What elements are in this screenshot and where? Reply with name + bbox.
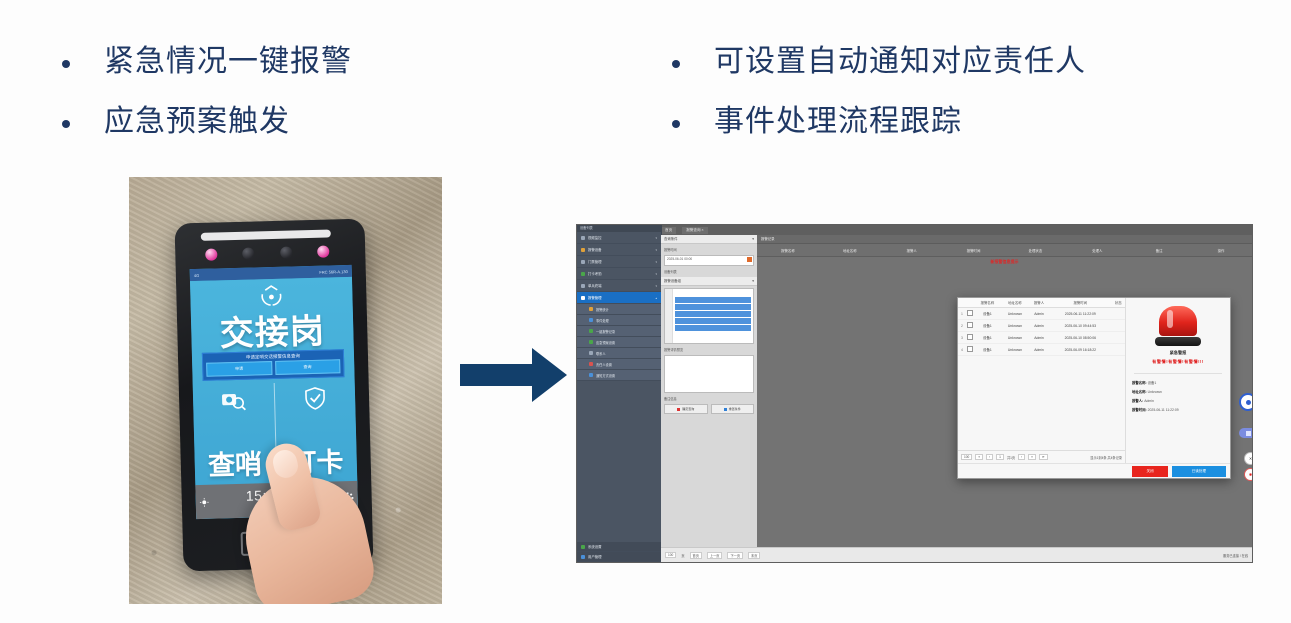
device-listbox[interactable]	[664, 288, 754, 344]
query-confirm-button[interactable]: 确定查询	[664, 404, 708, 414]
bullet-list-right: 可设置自动通知对应责任人 事件处理流程跟踪	[672, 44, 1086, 140]
cell-time: 2025-06-10 09:44:53	[1049, 320, 1111, 332]
cell-address: Unknown	[1001, 320, 1029, 332]
alarm-detail-panel: 紧急警报 有警情!有警情!有警情!!! 报警名称: 设备1 地址名称: Unkn…	[1126, 298, 1230, 463]
module-icon	[581, 248, 585, 252]
mark-handled-button[interactable]: 已读处理	[1172, 466, 1226, 477]
module-icon	[581, 272, 585, 276]
sidebar-item-attendance[interactable]: 打卡考勤 ▾	[577, 268, 661, 280]
module-icon	[589, 307, 593, 311]
status-next-page[interactable]: 下一页	[727, 552, 743, 559]
cell-status	[1112, 332, 1125, 344]
bullet-text: 事件处理流程跟踪	[714, 104, 962, 140]
software-statusbar: 100 页 首页 上一页 下一页 末页 服务已连接 / 在线	[661, 547, 1252, 562]
sidebar-child-contacts[interactable]: 联系人	[577, 348, 661, 359]
cell-address: Unknown	[1001, 344, 1029, 356]
module-icon	[589, 340, 593, 344]
cell-status	[1112, 344, 1125, 356]
row-checkbox[interactable]	[966, 332, 974, 344]
table-row[interactable]: 4 设备1 Unknown Admin 2025-06-09 16:18:22	[958, 344, 1125, 356]
sidebar-item-label: 门禁管理	[588, 259, 602, 264]
checkbox-icon[interactable]	[967, 334, 973, 340]
query-panel-title: 查询条件	[664, 235, 678, 243]
column-header: 报警人	[1029, 298, 1049, 308]
beacon-base	[1155, 337, 1201, 346]
module-icon	[589, 329, 593, 333]
chevron-down-icon: ▾	[655, 248, 657, 252]
bullet-dot-icon	[62, 60, 70, 68]
table-row[interactable]: 2 设备1 Unknown Admin 2025-06-10 09:44:53	[958, 320, 1125, 332]
alarm-info-person: 报警人: Admin	[1132, 398, 1224, 403]
sidebar-item-user-management[interactable]: 用户管理	[577, 552, 661, 562]
column-header: 地址名称	[819, 248, 881, 253]
sidebar-item-access[interactable]: 门禁管理 ▾	[577, 256, 661, 268]
chevron-down-icon: ▾	[655, 284, 657, 288]
alarm-dialog-footer: 关闭 已读处理	[958, 463, 1230, 478]
settings-badge-icon[interactable]: ✱	[1244, 468, 1253, 481]
alarm-info-time: 报警时间: 2025-06-11 11:22:09	[1132, 407, 1224, 412]
cell-name: 设备1	[974, 332, 1001, 344]
sidebar-item-label: 系统设置	[588, 544, 602, 549]
right-arrow-icon	[460, 348, 567, 407]
chevron-down-icon[interactable]: ▾	[752, 277, 754, 285]
bullet-dot-icon	[62, 120, 70, 128]
alarm-title: 紧急警报	[1170, 350, 1187, 356]
beacon-highlight	[1167, 310, 1173, 328]
sidebar-child-notify-settings[interactable]: 通知方式设置	[577, 370, 661, 381]
checkbox-icon[interactable]	[967, 310, 973, 316]
shield-check-icon	[302, 386, 329, 411]
device-banner-button-query[interactable]: 查询	[275, 359, 341, 375]
sidebar-item-alarm-management[interactable]: 报警管理 ▴	[577, 292, 661, 304]
row-checkbox[interactable]	[966, 344, 974, 356]
record-dot-icon[interactable]	[1239, 393, 1253, 411]
device-banner[interactable]: 申请定哨交话报警信息查询 申请 查询	[202, 349, 345, 381]
info-value: 设备1	[1148, 381, 1157, 385]
preview-box	[664, 355, 754, 393]
tab-alarm-query[interactable]: 报警查询 ×	[682, 227, 707, 234]
column-header: 报警名称	[757, 248, 819, 253]
sidebar-item-system-settings[interactable]: 系统设置	[577, 542, 661, 552]
cell-person: Admin	[1029, 308, 1049, 320]
device-action-inspect[interactable]: 查哨	[193, 383, 276, 485]
table-row[interactable]: 1 设备1 Unknown Admin 2025-06-11 11:22:09	[958, 308, 1125, 320]
column-header: 报警时间	[943, 248, 1005, 253]
new-alarm-notice: 新报警信息提示	[757, 259, 1252, 265]
index-header	[958, 298, 966, 308]
next-page-button[interactable]: ›	[1018, 454, 1025, 460]
bullet-item: 应急预案触发	[62, 104, 352, 140]
module-icon	[581, 236, 585, 240]
cell-time: 2025-06-11 11:22:09	[1049, 308, 1111, 320]
alarm-subtitle: 有警情!有警情!有警情!!!	[1152, 359, 1204, 365]
list-item[interactable]	[675, 304, 751, 310]
column-header: 报警人	[881, 248, 943, 253]
sidebar-item-label: 联系人	[596, 351, 606, 356]
column-header: 报警名称	[974, 298, 1001, 308]
sidebar-item-label: 打卡考勤	[588, 271, 602, 276]
device-status-right: FRC 56R-A.130	[319, 269, 348, 275]
bullet-list-left: 紧急情况一键报警 应急预案触发	[62, 44, 352, 140]
device-speaker	[201, 229, 331, 240]
info-value: Unknown	[1148, 390, 1162, 394]
refresh-button[interactable]: ⟳	[1039, 454, 1048, 460]
sidebar-item-label: 用户管理	[588, 554, 602, 559]
status-page-unit: 页	[681, 553, 684, 558]
list-item[interactable]	[675, 325, 751, 331]
checkbox-icon[interactable]	[967, 346, 973, 352]
module-icon	[581, 545, 585, 549]
sidebar-item-label: 责任人设置	[596, 362, 612, 367]
sidebar-child-event-handling[interactable]: 事件处理	[577, 315, 661, 326]
window-pill-icon[interactable]	[1239, 428, 1253, 438]
main-column-header: 报警名称 地址名称 报警人 报警时间 处理状态 处理人 备注 操作	[757, 244, 1252, 257]
device-group-title: 报警设备组	[664, 277, 681, 285]
software-sidebar: 设备列表 视频监控 ▾ 报警设备 ▾ 门禁管理 ▾ 打卡考勤 ▾	[577, 225, 662, 562]
bullet-item: 可设置自动通知对应责任人	[672, 44, 1086, 80]
table-row[interactable]: 3 设备1 Unknown Admin 2025-06-10 08:50:06	[958, 332, 1125, 344]
calendar-icon[interactable]	[747, 257, 752, 262]
cell-status	[1112, 320, 1125, 332]
module-icon	[581, 260, 585, 264]
info-label: 报警名称:	[1132, 381, 1147, 385]
cell-time: 2025-06-10 08:50:06	[1049, 332, 1111, 344]
bullet-text: 紧急情况一键报警	[104, 44, 352, 80]
cell-name: 设备1	[974, 308, 1001, 320]
alarm-dialog-table-area: 报警名称 地址名称 报警人 报警时间 状态 1	[958, 298, 1126, 463]
cell-address: Unknown	[1001, 332, 1029, 344]
close-button[interactable]: 关闭	[1132, 466, 1167, 477]
software-screenshot: 首页 报警查询 × 设备列表 视频监控 ▾ 报警设备 ▾ 门禁管理 ▾	[576, 224, 1253, 563]
device-list-label: 设备列表	[664, 269, 754, 274]
alarm-info-list: 报警名称: 设备1 地址名称: Unknown 报警人: Admin	[1132, 380, 1224, 416]
device-status-left: 4G	[194, 272, 199, 277]
alarm-beacon-icon	[1155, 306, 1201, 346]
column-header: 状态	[1112, 298, 1125, 308]
status-prev-page[interactable]: 上一页	[707, 552, 723, 559]
checkbox-icon[interactable]	[967, 322, 973, 328]
chevron-up-icon: ▴	[655, 296, 657, 300]
first-page-button[interactable]: «	[975, 454, 983, 460]
divider	[1134, 373, 1222, 374]
beacon-dome	[1159, 306, 1197, 336]
sidebar-item-label: 事件处理	[596, 318, 609, 323]
sidebar-item-video[interactable]: 视频监控 ▾	[577, 232, 661, 244]
close-badge-icon[interactable]: ✕	[1244, 452, 1253, 465]
device-led-row	[205, 246, 329, 261]
row-index: 3	[958, 332, 966, 344]
software-topbar: 首页 报警查询 ×	[577, 225, 1252, 235]
sidebar-item-alarm-device[interactable]: 报警设备 ▾	[577, 244, 661, 256]
reset-icon	[724, 408, 727, 411]
cell-name: 设备1	[974, 344, 1001, 356]
cell-status	[1112, 308, 1125, 320]
module-icon	[589, 362, 593, 366]
cell-person: Admin	[1029, 320, 1049, 332]
sidebar-child-emergency-plan[interactable]: 应急预案设置	[577, 337, 661, 348]
sidebar-header: 设备列表	[577, 225, 661, 232]
column-header: 操作	[1190, 248, 1252, 253]
sidebar-item-label: 一键报警记录	[596, 329, 615, 334]
sidebar-item-label: 报警设备	[588, 247, 602, 252]
remark-label: 备注信息	[664, 396, 754, 401]
led-indicator-icon	[317, 246, 329, 258]
bullet-dot-icon	[672, 120, 680, 128]
status-first-page[interactable]: 首页	[690, 552, 702, 559]
led-indicator-icon	[205, 248, 217, 260]
page-total-label: 共1页	[1007, 455, 1015, 460]
sidebar-item-label: 通知方式设置	[596, 373, 615, 378]
preview-caption: 报警详情预览	[664, 347, 754, 352]
cell-name: 设备1	[974, 320, 1001, 332]
confirm-icon	[677, 408, 680, 411]
bullet-item: 事件处理流程跟踪	[672, 104, 1086, 140]
info-value: Admin	[1144, 399, 1154, 403]
info-label: 报警人:	[1132, 399, 1143, 403]
pagination-bar: 100 « ‹ 1 共1页 › » ⟳ 显示1到4条,共4条记录	[958, 450, 1125, 463]
query-button-row: 确定查询 重置条件	[664, 404, 754, 414]
led-indicator-icon	[280, 246, 292, 258]
query-reset-label: 重置条件	[729, 407, 741, 411]
bullet-dot-icon	[672, 60, 680, 68]
list-item[interactable]	[675, 297, 751, 303]
column-header: 报警时间	[1049, 298, 1111, 308]
chevron-down-icon: ▾	[655, 260, 657, 264]
chevron-down-icon[interactable]: ▾	[752, 235, 754, 243]
camera-search-icon	[220, 388, 247, 413]
column-header: 备注	[1128, 248, 1190, 253]
brightness-icon[interactable]	[200, 497, 209, 506]
led-indicator-icon	[242, 247, 254, 259]
prev-page-button[interactable]: ‹	[986, 454, 993, 460]
info-label: 地址名称:	[1132, 390, 1147, 394]
page-size-select[interactable]: 100	[961, 454, 972, 460]
record-summary: 显示1到4条,共4条记录	[1090, 455, 1122, 460]
alarm-info-address: 地址名称: Unknown	[1132, 389, 1224, 394]
bullet-text: 可设置自动通知对应责任人	[714, 44, 1086, 80]
module-icon	[589, 318, 593, 322]
connection-status: 服务已连接 / 在线	[1223, 553, 1248, 558]
cell-person: Admin	[1029, 332, 1049, 344]
device-action-label: 查哨	[194, 442, 275, 483]
info-value: 2025-06-11 11:22:09	[1148, 408, 1179, 412]
cell-address: Unknown	[1001, 308, 1029, 320]
module-icon	[581, 284, 585, 288]
tab-home[interactable]: 首页	[661, 227, 676, 234]
fingernail	[270, 447, 300, 480]
last-page-button[interactable]: »	[1028, 454, 1036, 460]
row-checkbox[interactable]	[966, 320, 974, 332]
query-confirm-label: 确定查询	[682, 407, 694, 411]
query-field-label: 报警时间	[664, 247, 754, 252]
cell-time: 2025-06-09 16:18:22	[1049, 344, 1111, 356]
alarm-info-name: 报警名称: 设备1	[1132, 380, 1224, 385]
row-checkbox[interactable]	[966, 308, 974, 320]
row-number-gutter	[665, 289, 673, 343]
device-screen-title: 交接岗	[191, 303, 354, 356]
slide-canvas: 紧急情况一键报警 应急预案触发 可设置自动通知对应责任人 事件处理流程跟踪	[0, 0, 1291, 623]
software-main: 报警记录 报警名称 地址名称 报警人 报警时间 处理状态 处理人 备注 操作 新…	[757, 235, 1252, 548]
date-range-input[interactable]: 2025-06-01 00:00	[664, 255, 754, 266]
query-panel: 查询条件 ▾ 报警时间 2025-06-01 00:00 设备列表 报警设备组 …	[661, 235, 758, 548]
module-icon	[581, 555, 585, 559]
status-last-page[interactable]: 末页	[748, 552, 760, 559]
checkbox-header	[966, 298, 974, 308]
sidebar-child-alarm-stats[interactable]: 报警统计	[577, 304, 661, 315]
list-item[interactable]	[675, 318, 751, 324]
device-photo: 4G FRC 56R-A.130 交接岗 申请定哨交话报警信息查询 申请	[129, 177, 442, 604]
status-page-size[interactable]: 100	[665, 552, 676, 558]
date-range-value: 2025-06-01 00:00	[665, 256, 753, 262]
alarm-dialog: 报警名称 地址名称 报警人 报警时间 状态 1	[957, 297, 1231, 479]
column-header: 处理人	[1066, 248, 1128, 253]
table-header-row: 报警名称 地址名称 报警人 报警时间 状态	[958, 298, 1125, 308]
sidebar-item-label: 报警统计	[596, 307, 609, 312]
sidebar-item-terminal[interactable]: 单兵终端 ▾	[577, 280, 661, 292]
sidebar-child-onekey-records[interactable]: 一键报警记录	[577, 326, 661, 337]
sidebar-item-label: 应急预案设置	[596, 340, 615, 345]
chevron-down-icon: ▾	[655, 272, 657, 276]
row-index: 1	[958, 308, 966, 320]
alarm-table: 报警名称 地址名称 报警人 报警时间 状态 1	[958, 298, 1125, 356]
query-panel-header: 查询条件 ▾	[661, 235, 757, 244]
current-page-input[interactable]: 1	[996, 454, 1004, 460]
bullet-text: 应急预案触发	[104, 104, 290, 140]
sidebar-child-responsible-person[interactable]: 责任人设置	[577, 359, 661, 370]
column-header: 地址名称	[1001, 298, 1029, 308]
module-icon	[589, 351, 593, 355]
sidebar-item-label: 报警管理	[588, 295, 602, 300]
bullet-item: 紧急情况一键报警	[62, 44, 352, 80]
device-group-header: 报警设备组 ▾	[661, 277, 757, 286]
sidebar-item-label: 单兵终端	[588, 283, 602, 288]
column-header: 处理状态	[1005, 248, 1067, 253]
info-label: 报警时间:	[1132, 408, 1147, 412]
sidebar-item-label: 视频监控	[588, 235, 602, 240]
module-icon	[589, 373, 593, 377]
list-item[interactable]	[675, 311, 751, 317]
row-index: 4	[958, 344, 966, 356]
row-index: 2	[958, 320, 966, 332]
main-panel-title: 报警记录	[757, 235, 1252, 244]
chevron-down-icon: ▾	[655, 236, 657, 240]
module-icon	[581, 296, 585, 300]
query-reset-button[interactable]: 重置条件	[711, 404, 755, 414]
sidebar-bottom-group: 系统设置 用户管理	[577, 542, 661, 562]
cell-person: Admin	[1029, 344, 1049, 356]
device-banner-button-apply[interactable]: 申请	[206, 361, 272, 377]
